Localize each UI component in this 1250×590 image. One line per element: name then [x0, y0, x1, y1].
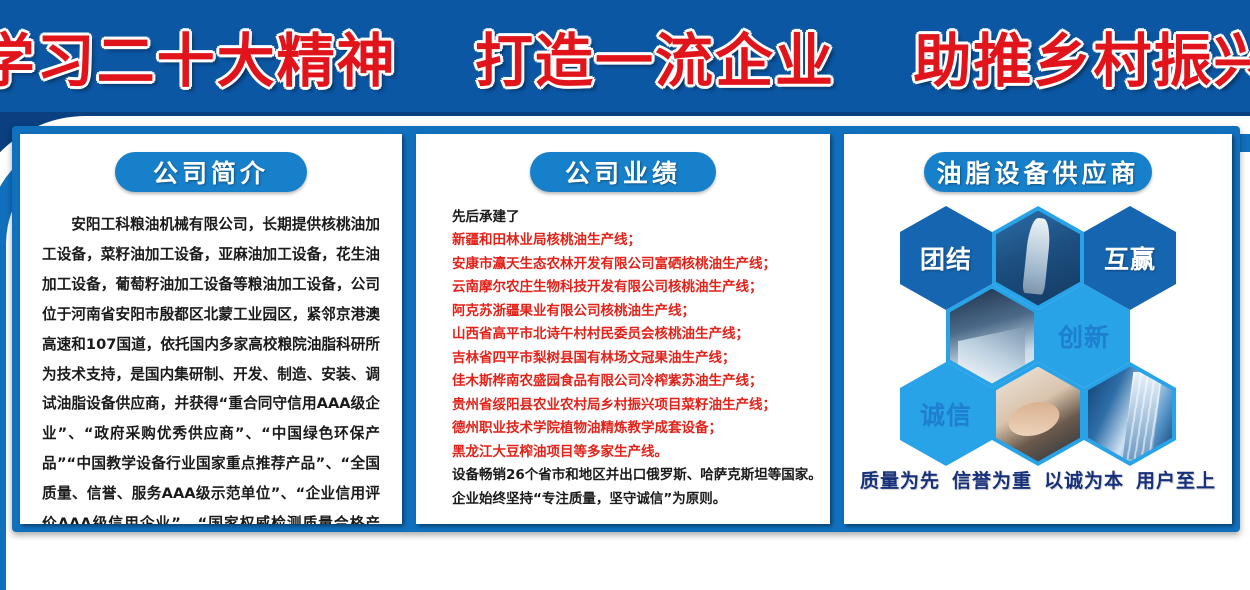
performance-lead: 先后承建了 [452, 206, 830, 229]
supplier-tagline: 质量为先信誉为重以诚为本用户至上 [844, 466, 1232, 493]
list-item: 佳木斯桦南农盛园食品有限公司冷榨紫苏油生产线； [452, 370, 830, 393]
tagline-part-2: 信誉为重 [952, 470, 1032, 492]
title-part-2: 打造一流企业 [475, 27, 835, 95]
hexagon-chuangxin-label: 创新 [1058, 318, 1110, 354]
panel-supplier: 油脂设备供应商 团结 互赢 创新 [844, 134, 1232, 524]
list-item: 贵州省绥阳县农业农村局乡村振兴项目菜籽油生产线； [452, 394, 830, 417]
tagline-part-4: 用户至上 [1136, 470, 1216, 492]
heading-company-intro: 公司简介 [115, 152, 307, 192]
heading-company-performance-label: 公司业绩 [565, 154, 681, 190]
heading-company-intro-label: 公司简介 [153, 154, 269, 190]
aircraft-carrier-photo [996, 211, 1080, 306]
list-item: 云南摩尔农庄生物科技开发有限公司核桃油生产线； [452, 276, 830, 299]
tagline-part-3: 以诚为本 [1044, 470, 1124, 492]
success-mountain-photo [950, 289, 1034, 384]
heading-supplier-label: 油脂设备供应商 [936, 154, 1139, 190]
list-item: 黑龙江大豆榨油项目等多家生产线。 [452, 441, 830, 464]
list-item: 阿克苏浙疆果业有限公司核桃油生产线； [452, 300, 830, 323]
poster-title-band: 学习二十大精神 打造一流企业 助推乡村振兴 [0, 0, 1250, 112]
title-part-1: 学习二十大精神 [0, 27, 397, 95]
performance-tail-line: 设备畅销26个省市和地区并出口俄罗斯、哈萨克斯坦等国家。 [452, 464, 830, 487]
hexagon-chengxin-label: 诚信 [920, 396, 972, 432]
performance-tail-line: 企业始终坚持“专注质量，坚守诚信”为原则。 [452, 488, 830, 511]
list-item: 吉林省四平市梨树县国有林场文冠果油生产线； [452, 347, 830, 370]
poster-root: 学习二十大精神 打造一流企业 助推乡村振兴 公司简介 安阳工科粮油机械有限公司，… [0, 0, 1250, 590]
list-item: 山西省高平市北诗午村村民委员会核桃油生产线； [452, 323, 830, 346]
content-board: 公司简介 安阳工科粮油机械有限公司，长期提供核桃油加工设备，菜籽油加工设备，亚麻… [12, 126, 1240, 532]
skyscraper-photo [1088, 367, 1172, 462]
hexagon-cluster: 团结 互赢 创新 诚信 [844, 200, 1232, 462]
panel-company-performance: 公司业绩 先后承建了 新疆和田林业局核桃油生产线； 安康市瀛天生态农林开发有限公… [416, 134, 830, 524]
heading-company-performance: 公司业绩 [530, 152, 716, 192]
company-intro-text: 安阳工科粮油机械有限公司，长期提供核桃油加工设备，菜籽油加工设备，亚麻油加工设备… [42, 210, 380, 524]
heading-supplier: 油脂设备供应商 [924, 152, 1152, 192]
page-title: 学习二十大精神 打造一流企业 助推乡村振兴 [0, 14, 1250, 98]
hexagon-tuanjie-label: 团结 [920, 240, 972, 276]
tagline-part-1: 质量为先 [860, 470, 940, 492]
handshake-photo [996, 367, 1080, 462]
panel-company-intro: 公司简介 安阳工科粮油机械有限公司，长期提供核桃油加工设备，菜籽油加工设备，亚麻… [20, 134, 402, 524]
hexagon-huying-label: 互赢 [1104, 240, 1156, 276]
list-item: 新疆和田林业局核桃油生产线； [452, 229, 830, 252]
list-item: 安康市瀛天生态农林开发有限公司富硒核桃油生产线； [452, 253, 830, 276]
performance-list: 先后承建了 新疆和田林业局核桃油生产线； 安康市瀛天生态农林开发有限公司富硒核桃… [452, 206, 830, 511]
list-item: 德州职业技术学院植物油精炼教学成套设备； [452, 417, 830, 440]
title-part-3: 助推乡村振兴 [913, 27, 1250, 95]
